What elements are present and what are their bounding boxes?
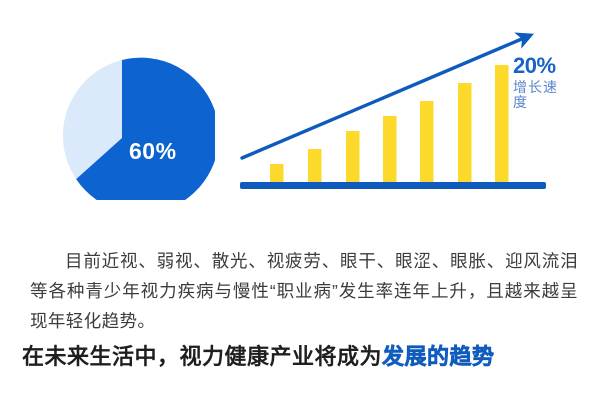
- infographic-canvas: 60%: [0, 0, 600, 400]
- headline: 在未来生活中，视力健康产业将成为发展的趋势: [22, 340, 582, 374]
- bar-6: [458, 83, 472, 182]
- pie-chart-svg: [35, 15, 215, 200]
- bar-7: [495, 65, 509, 182]
- bar-4: [383, 116, 397, 182]
- bar-chart: 20% 增长速度: [230, 18, 560, 203]
- bar-3: [346, 131, 360, 182]
- growth-caption: 增长速度: [513, 80, 560, 109]
- headline-plain-text: 在未来生活中，视力健康产业将成为: [22, 344, 382, 369]
- bar-chart-svg: [230, 18, 560, 203]
- bar-2: [308, 149, 322, 182]
- visualization-band: 60%: [0, 0, 600, 210]
- bar-5: [420, 101, 434, 182]
- bar-1: [270, 164, 284, 182]
- headline-accent-text: 发展的趋势: [382, 344, 495, 369]
- growth-annotation: 20% 增长速度: [513, 54, 560, 109]
- body-paragraph: 目前近视、弱视、散光、视疲劳、眼干、眼涩、眼胀、迎风流泪等各种青少年视力疾病与慢…: [30, 246, 578, 336]
- chart-baseline: [240, 182, 546, 189]
- growth-percent: 20%: [513, 54, 560, 77]
- pie-chart: 60%: [35, 15, 215, 200]
